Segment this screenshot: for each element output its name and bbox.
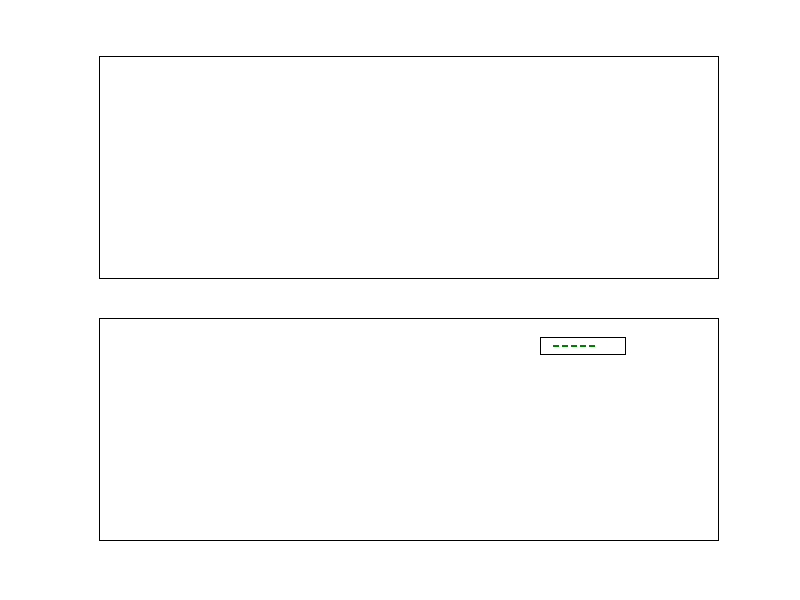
cumulative-histogram-axes (99, 318, 719, 541)
histogram-bars (100, 57, 718, 278)
differential-histogram-axes (99, 56, 719, 279)
legend (540, 337, 626, 355)
figure (0, 0, 800, 600)
mag-limit-line-icon (553, 345, 595, 347)
